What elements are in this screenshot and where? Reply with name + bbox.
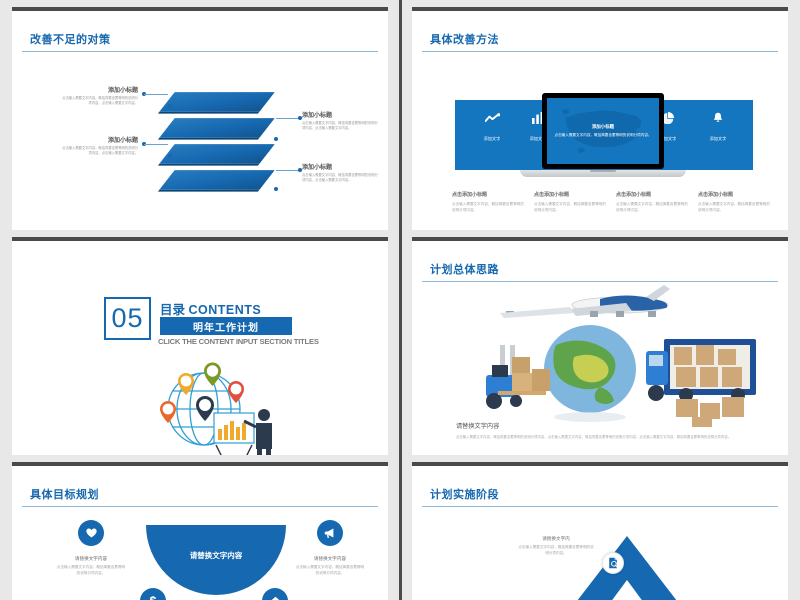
slide-thumbnail-grid: 改善不足的对策 添加小标题 点击输入需要文字内容，概括简要含蓄等明的说明分项内容…	[0, 0, 800, 600]
line-chart-icon	[469, 112, 515, 128]
slide-title: 具体改善方法	[430, 31, 499, 47]
stack-layer-1	[159, 92, 274, 112]
connector-line-1	[144, 94, 168, 95]
callout-heading: 添加小标题	[60, 135, 138, 144]
laptop-body: 点击输入需要文字内容，概括简要含蓄等明的说明分项内容。	[554, 133, 651, 139]
caption-heading: 点击添加小标题	[534, 191, 606, 198]
phase-text-block: 请替换文字内 点击输入需要文字内容，概括简要含蓄等明的说明分项内容。	[517, 536, 595, 557]
title-underline	[22, 506, 378, 507]
caption-body: 点击输入需要文字内容，概括简要含蓄等明的说明分项内容。	[452, 202, 524, 214]
title-underline	[22, 51, 378, 52]
phase-badge[interactable]	[602, 552, 624, 574]
home-icon	[270, 596, 281, 600]
banner-item-4[interactable]: 添加文字	[695, 112, 741, 142]
caption-column: 点击添加小标题 点击输入需要文字内容，概括简要含蓄等明的说明分项内容。	[698, 191, 770, 214]
slide-title: 具体目标规划	[30, 486, 99, 502]
caption-heading: 点击添加小标题	[616, 191, 688, 198]
laptop-heading: 添加小标题	[554, 124, 651, 130]
home-icon-circle[interactable]	[262, 588, 288, 600]
slide-title: 计划实施阶段	[430, 486, 499, 502]
laptop-display: 添加小标题 点击输入需要文字内容，概括简要含蓄等明的说明分项内容。	[547, 98, 659, 164]
connector-dot-4	[274, 187, 278, 191]
callout-label-2: 添加小标题 点击输入需要文字内容，概括简要含蓄等明的说明分项内容，点击输入需要文…	[60, 135, 138, 156]
caption-body: 点击输入需要文字内容，概括简要含蓄等明的说明分项内容。点击输入需要文字内容，概括…	[456, 434, 731, 439]
banner-item-label: 添加文字	[469, 136, 515, 142]
stack-layer-4	[159, 170, 274, 190]
laptop-screen: 添加小标题 点击输入需要文字内容，概括简要含蓄等明的说明分项内容。	[542, 93, 664, 169]
callout-label-4: 添加小标题 点击输入需要文字内容，概括简要含蓄等明的说明分项内容，点击输入需要文…	[302, 162, 380, 183]
megaphone-icon-circle[interactable]	[317, 520, 343, 546]
caption-body: 点击输入需要文字内容，概括简要含蓄等明的说明分项内容。	[698, 202, 770, 214]
megaphone-icon	[324, 527, 336, 539]
presentation-board	[214, 413, 254, 455]
connector-line-2	[144, 144, 168, 145]
banner-item-label: 添加文字	[695, 136, 741, 142]
title-underline	[422, 506, 778, 507]
section-number: 05	[104, 297, 151, 340]
block-body: 点击输入需要文字内容，概括简要含蓄等明的说明分项内容。	[56, 565, 126, 577]
connector-line-4	[276, 170, 300, 171]
caption-column: 点击添加小标题 点击输入需要文字内容，概括简要含蓄等明的说明分项内容。	[534, 191, 606, 214]
title-underline	[422, 51, 778, 52]
vertical-gutter	[399, 0, 402, 600]
block-heading: 请替换文字内	[517, 536, 595, 542]
slide-goal-planning[interactable]: 具体目标规划 请替换文字内容 $ 请替换文字内容 点击输入需要文字内容，概括简要…	[12, 462, 388, 600]
connector-dot-1b	[168, 104, 172, 108]
slide-implementation-phases[interactable]: 计划实施阶段 请替换文字内 点击输入需要文字内容，概括简要含蓄等明的说明分项内容…	[412, 462, 788, 600]
slide-title: 改善不足的对策	[30, 31, 111, 47]
heart-icon	[86, 528, 97, 538]
slide-caption: 请替换文字内容 点击输入需要文字内容，概括简要含蓄等明的说明分项内容。点击输入需…	[456, 421, 731, 439]
slide-concrete-methods[interactable]: 具体改善方法 添加文字 添加文字 添加文字	[412, 7, 788, 230]
banner-item-1[interactable]: 添加文字	[469, 112, 515, 142]
connector-dot-2b	[168, 154, 172, 158]
caption-heading: 点击添加小标题	[698, 191, 770, 198]
caption-column: 点击添加小标题 点击输入需要文字内容，概括简要含蓄等明的说明分项内容。	[616, 191, 688, 214]
section-subtitle: CLICK THE CONTENT INPUT SECTION TITLES	[158, 337, 319, 346]
connector-dot-3	[274, 137, 278, 141]
caption-column: 点击添加小标题 点击输入需要文字内容，概括简要含蓄等明的说明分项内容。	[452, 191, 524, 214]
callout-label-1: 添加小标题 点击输入需要文字内容，概括简要含蓄等明的说明分项内容，点击输入需要文…	[60, 85, 138, 106]
map-pin-navy	[196, 396, 214, 421]
slide-improvement-measures[interactable]: 改善不足的对策 添加小标题 点击输入需要文字内容，概括简要含蓄等明的说明分项内容…	[12, 7, 388, 230]
slide-section-divider[interactable]: 05 目录 CONTENTS 明年工作计划 CLICK THE CONTENT …	[12, 237, 388, 455]
forklift-icon	[486, 345, 550, 409]
laptop-mockup: 添加小标题 点击输入需要文字内容，概括简要含蓄等明的说明分项内容。	[542, 93, 664, 177]
block-body: 点击输入需要文字内容，概括简要含蓄等明的说明分项内容。	[295, 565, 365, 577]
caption-body: 点击输入需要文字内容，概括简要含蓄等明的说明分项内容。	[534, 202, 606, 214]
callout-body: 点击输入需要文字内容，概括简要含蓄等明的说明分项内容，点击输入需要文字内容。	[302, 173, 380, 183]
dollar-icon: $	[150, 594, 157, 600]
center-label: 请替换文字内容	[146, 550, 286, 561]
caption-body: 点击输入需要文字内容，概括简要含蓄等明的说明分项内容。	[616, 202, 688, 214]
stack-layer-3	[159, 144, 274, 164]
laptop-base	[520, 170, 686, 177]
caption-heading: 点击添加小标题	[452, 191, 524, 198]
truck-container-icon	[646, 339, 756, 427]
laptop-text: 添加小标题 点击输入需要文字内容，概括简要含蓄等明的说明分项内容。	[554, 124, 651, 139]
callout-body: 点击输入需要文字内容，概括简要含蓄等明的说明分项内容，点击输入需要文字内容。	[302, 121, 380, 131]
globe-infographic	[152, 357, 280, 455]
laptop-trackpad-notch	[590, 170, 616, 172]
left-text-block: 请替换文字内容 点击输入需要文字内容，概括简要含蓄等明的说明分项内容。	[56, 556, 126, 577]
callout-body: 点击输入需要文字内容，概括简要含蓄等明的说明分项内容，点击输入需要文字内容。	[60, 146, 138, 156]
heart-icon-circle[interactable]	[78, 520, 104, 546]
slide-title: 计划总体思路	[430, 261, 499, 277]
block-body: 点击输入需要文字内容，概括简要含蓄等明的说明分项内容。	[517, 545, 595, 557]
map-pin-orange	[160, 401, 176, 423]
stack-layer-2	[159, 118, 274, 138]
caption-heading: 请替换文字内容	[456, 421, 731, 430]
contents-heading-cn: 目录	[160, 303, 185, 317]
connector-line-3	[276, 118, 300, 119]
logistics-illustration	[450, 283, 780, 433]
contents-heading: 目录 CONTENTS	[160, 299, 261, 318]
contents-heading-en: CONTENTS	[189, 303, 262, 317]
airplane-icon	[500, 285, 670, 318]
block-heading: 请替换文字内容	[295, 556, 365, 562]
block-heading: 请替换文字内容	[56, 556, 126, 562]
globe-graphic	[544, 325, 636, 422]
right-text-block: 请替换文字内容 点击输入需要文字内容，概括简要含蓄等明的说明分项内容。	[295, 556, 365, 577]
callout-heading: 添加小标题	[302, 162, 380, 171]
callout-heading: 添加小标题	[302, 110, 380, 119]
map-pin-green	[204, 363, 221, 387]
caption-columns: 点击添加小标题 点击输入需要文字内容，概括简要含蓄等明的说明分项内容。 点击添加…	[452, 191, 772, 214]
slide-overall-plan[interactable]: 计划总体思路	[412, 237, 788, 455]
section-title-bar: 明年工作计划	[160, 317, 292, 335]
layer-stack-diagram	[167, 83, 277, 198]
title-underline	[422, 281, 778, 282]
callout-body: 点击输入需要文字内容，概括简要含蓄等明的说明分项内容，点击输入需要文字内容。	[60, 96, 138, 106]
bell-icon	[695, 112, 741, 128]
callout-label-3: 添加小标题 点击输入需要文字内容，概括简要含蓄等明的说明分项内容，点击输入需要文…	[302, 110, 380, 131]
document-search-icon	[607, 557, 619, 569]
dollar-icon-circle[interactable]: $	[140, 588, 166, 600]
callout-heading: 添加小标题	[60, 85, 138, 94]
